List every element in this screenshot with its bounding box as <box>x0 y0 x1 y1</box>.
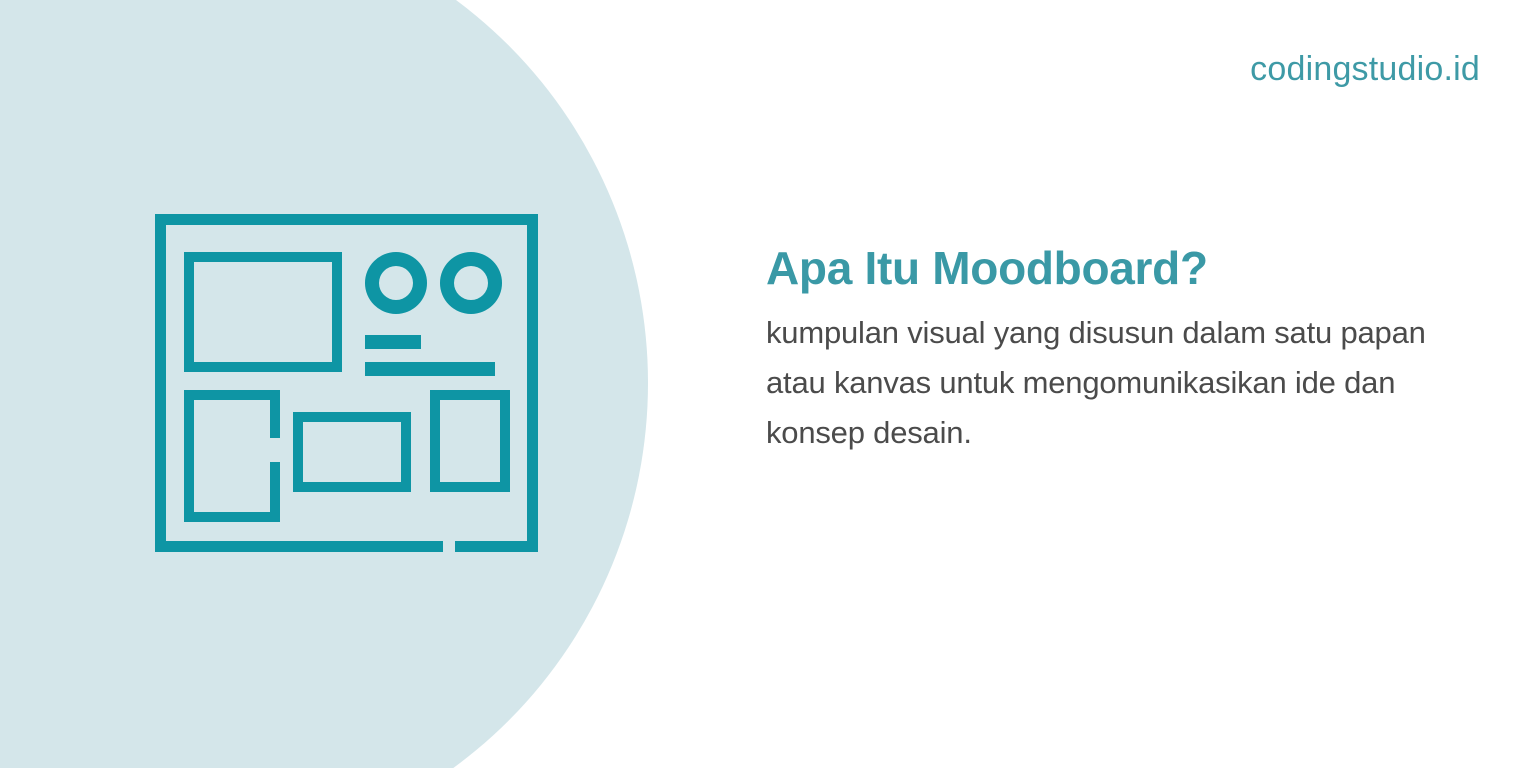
text-column: Apa Itu Moodboard? kumpulan visual yang … <box>766 243 1446 458</box>
brand-logo-text: codingstudio.id <box>1250 52 1480 86</box>
frame-right-bar <box>527 214 538 552</box>
panel-lower-left-notch-lower <box>270 462 280 492</box>
panel-text-bar-long <box>365 362 495 376</box>
panel-lower-left-rect <box>184 390 280 522</box>
moodboard-icon <box>155 214 547 558</box>
panel-text-bar-short <box>365 335 421 349</box>
panel-circle-right <box>440 252 502 314</box>
panel-lower-right-rect <box>430 390 510 492</box>
panel-lower-middle-rect <box>293 412 411 492</box>
slide-canvas: codingstudio.id <box>0 0 1536 768</box>
panel-large-rect <box>184 252 342 372</box>
frame-bottom-bar-left <box>155 541 443 552</box>
frame-bottom-bar-right <box>455 541 538 552</box>
page-body-text: kumpulan visual yang disusun dalam satu … <box>766 308 1426 459</box>
frame-left-bar <box>155 214 166 552</box>
panel-circle-left <box>365 252 427 314</box>
frame-top-bar <box>155 214 538 225</box>
page-title: Apa Itu Moodboard? <box>766 243 1446 294</box>
